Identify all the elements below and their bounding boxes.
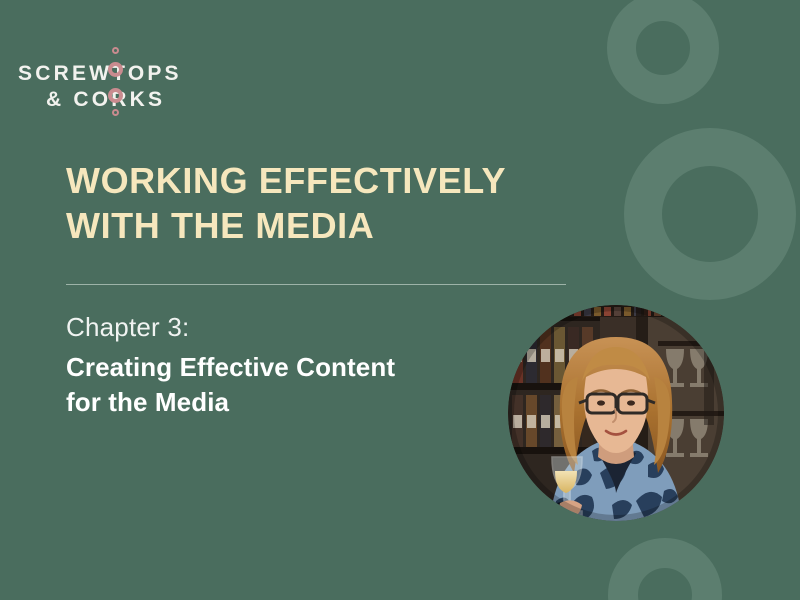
page-title-line-1: WORKING EFFECTIVELY (66, 158, 586, 203)
horizontal-divider (66, 284, 566, 285)
chapter-title-line-2: for the Media (66, 385, 496, 419)
chapter-title-line-1: Creating Effective Content (66, 350, 496, 384)
chapter-label: Chapter 3: (66, 310, 496, 344)
page-title: WORKING EFFECTIVELY WITH THE MEDIA (66, 158, 586, 249)
decorative-ring-middle (624, 128, 796, 300)
decorative-ring-bottom (608, 538, 722, 600)
portrait-photo (508, 305, 724, 521)
logo-ring-lower-icon (108, 88, 123, 103)
portrait-illustration (508, 305, 724, 521)
brand-logo: SCREWTOPS & CORKS (18, 47, 203, 119)
logo-dot-top-icon (112, 47, 119, 54)
chapter-block: Chapter 3: Creating Effective Content fo… (66, 310, 496, 419)
logo-text-corks: & CORKS (46, 89, 165, 110)
chapter-title: Creating Effective Content for the Media (66, 350, 496, 419)
decorative-ring-top (607, 0, 719, 104)
logo-dot-bottom-icon (112, 109, 119, 116)
title-slide: SCREWTOPS & CORKS WORKING EFFECTIVELY WI… (0, 0, 800, 600)
logo-text-screwtops: SCREWTOPS (18, 63, 182, 84)
page-title-line-2: WITH THE MEDIA (66, 203, 586, 248)
logo-ring-upper-icon (108, 62, 123, 77)
